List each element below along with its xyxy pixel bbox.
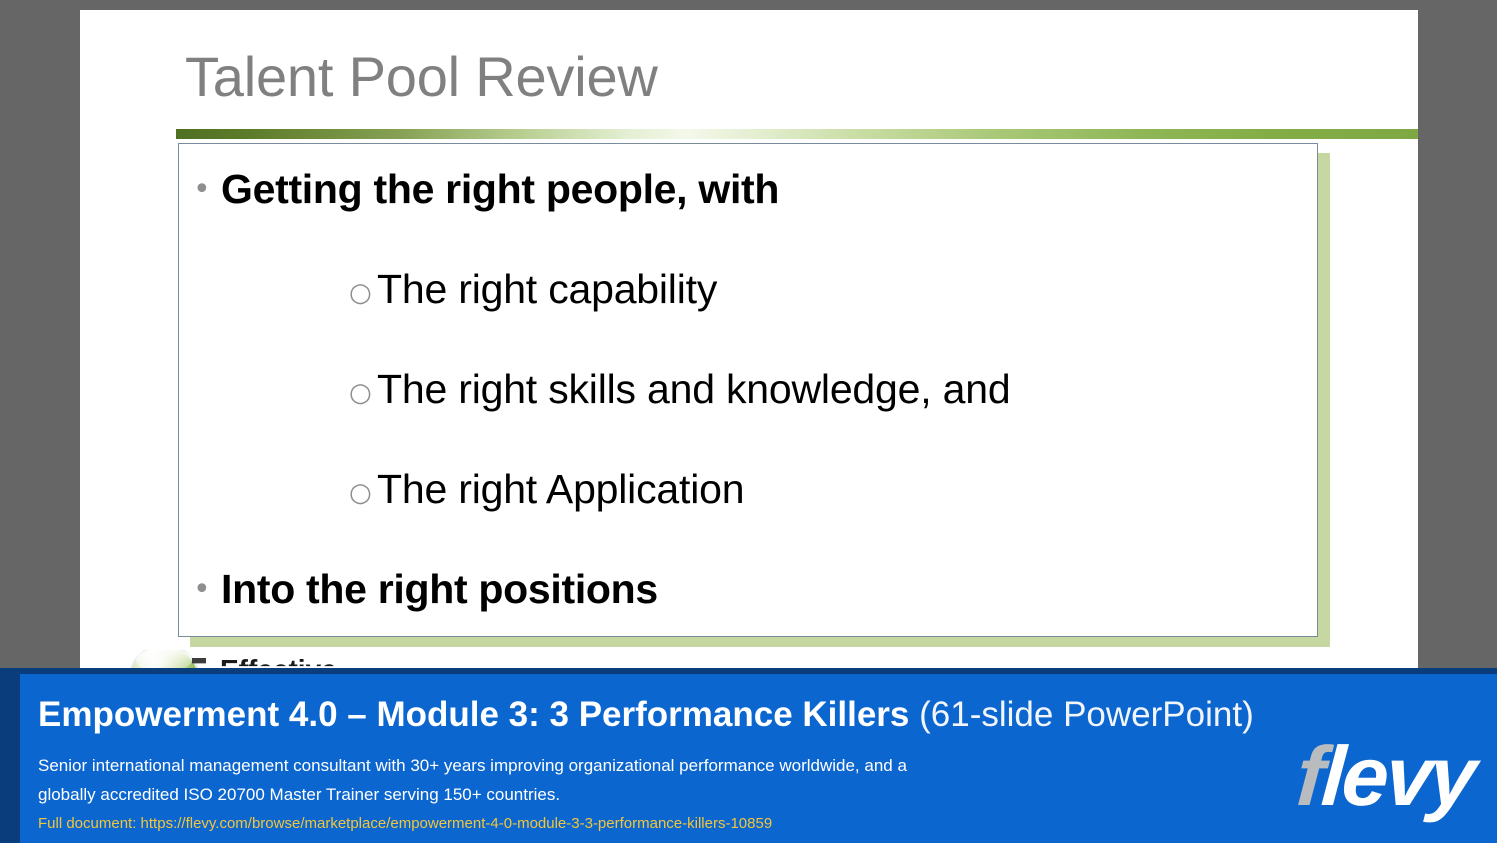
- content-box: • Getting the right people, with ○ The r…: [178, 143, 1318, 637]
- list-item-label: The right Application: [377, 466, 744, 513]
- list-item: ○ The right Application: [349, 466, 744, 513]
- page-title: Talent Pool Review: [185, 48, 1285, 107]
- footer-inner-panel: Empowerment 4.0 – Module 3: 3 Performanc…: [20, 674, 1497, 843]
- description-line-1: Senior international management consulta…: [38, 752, 1268, 781]
- list-item-label: Into the right positions: [221, 566, 658, 613]
- description-line-2: globally accredited ISO 20700 Master Tra…: [38, 781, 1268, 810]
- document-description: Senior international management consulta…: [38, 752, 1268, 810]
- bullet-circle-icon: ○: [349, 280, 377, 306]
- document-title-main: Empowerment 4.0 – Module 3: 3 Performanc…: [38, 695, 909, 734]
- list-item: • Getting the right people, with: [193, 166, 779, 213]
- list-item-label: The right skills and knowledge, and: [377, 366, 1010, 413]
- bullet-circle-icon: ○: [349, 380, 377, 406]
- bullet-list: • Getting the right people, with ○ The r…: [179, 144, 1317, 636]
- document-title: Empowerment 4.0 – Module 3: 3 Performanc…: [38, 696, 1254, 735]
- list-item-label: Getting the right people, with: [221, 166, 779, 213]
- list-item: ○ The right capability: [349, 266, 717, 313]
- slide-canvas: Talent Pool Review • Getting the right p…: [80, 10, 1418, 670]
- bullet-disc-icon: •: [193, 575, 221, 605]
- full-document-link[interactable]: Full document: https://flevy.com/browse/…: [38, 815, 772, 832]
- sphere-gloss-highlight: [136, 650, 192, 670]
- title-accent-bar: [176, 129, 1418, 139]
- flevy-logo-levy: levy: [1318, 729, 1476, 823]
- clipped-decoration-group: Effective: [80, 650, 1418, 670]
- bullet-circle-icon: ○: [349, 480, 377, 506]
- bullet-disc-icon: •: [193, 175, 221, 205]
- flevy-logo[interactable]: flevy: [1294, 734, 1476, 818]
- flevy-footer-banner: Empowerment 4.0 – Module 3: 3 Performanc…: [0, 668, 1497, 843]
- list-item: ○ The right skills and knowledge, and: [349, 366, 1010, 413]
- list-item: • Into the right positions: [193, 566, 658, 613]
- document-slide-count: (61-slide PowerPoint): [919, 695, 1254, 734]
- screenshot-backdrop: Talent Pool Review • Getting the right p…: [0, 0, 1497, 843]
- list-item-label: The right capability: [377, 266, 717, 313]
